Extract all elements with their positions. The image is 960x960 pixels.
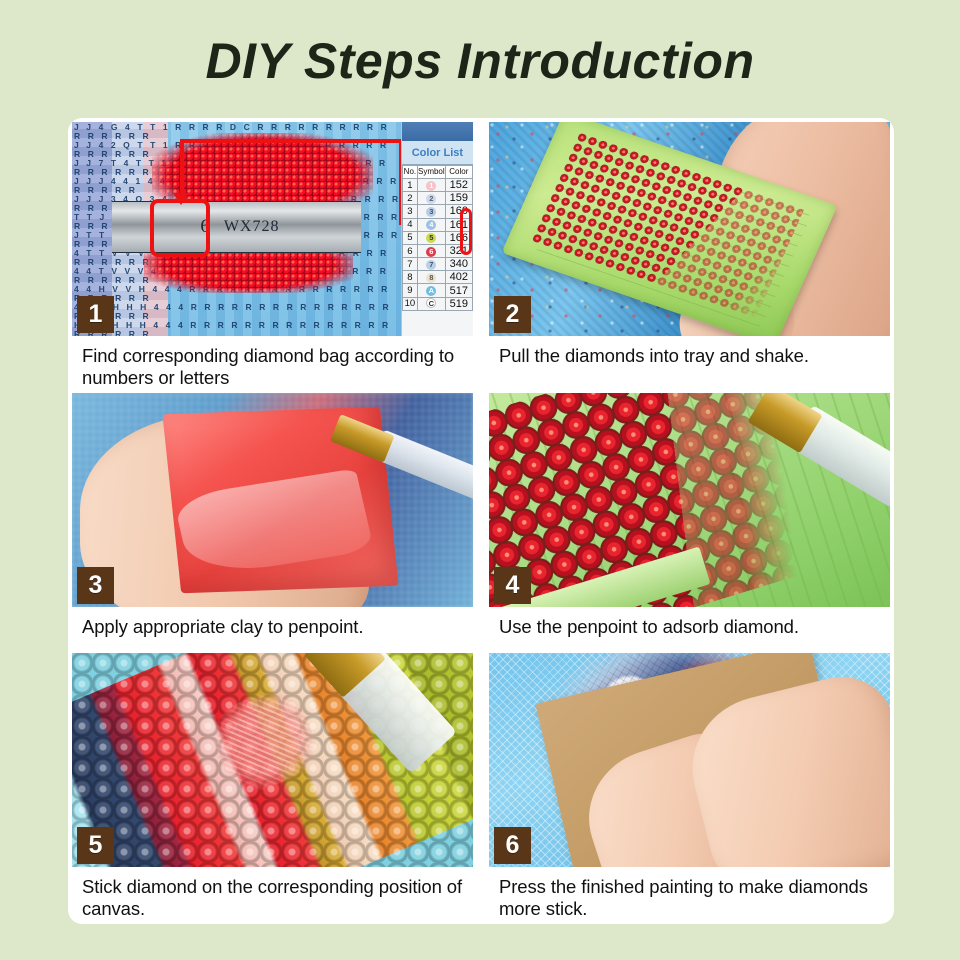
clay-fold	[174, 468, 375, 578]
step-3-caption: Apply appropriate clay to penpoint.	[72, 607, 473, 654]
step-item-3: 3 Apply appropriate clay to penpoint.	[72, 393, 473, 654]
color-list-highlight-box	[460, 208, 472, 255]
step-6-caption: Press the finished painting to make diam…	[489, 867, 890, 924]
step-4-caption: Use the penpoint to adsorb diamond.	[489, 607, 890, 654]
table-row: 7 7 340	[402, 258, 472, 271]
table-row: 2 2 159	[402, 192, 472, 205]
step-badge-3: 3	[77, 567, 114, 604]
symbol-swatch-icon: 3	[426, 207, 436, 217]
table-row: 1 1 152	[402, 178, 472, 191]
step-item-2: 2 Pull the diamonds into tray and shake.	[489, 122, 890, 393]
col-header-symbol: Symbol	[417, 165, 445, 178]
steps-card: J J 4 G 4 T T 1 R R R R D C R R R R R R …	[68, 118, 894, 924]
col-header-no: No.	[402, 165, 417, 178]
step-badge-5: 5	[77, 827, 114, 864]
step-item-4: 4 Use the penpoint to adsorb diamond.	[489, 393, 890, 654]
highlight-connector-horizontal	[180, 139, 401, 143]
symbol-swatch-icon: 5	[426, 233, 436, 243]
table-row: 9 A 517	[402, 284, 472, 297]
color-list-panel: Color List No. Symbol Color 1 1 152	[401, 122, 473, 336]
symbol-swatch-icon: 8	[426, 273, 436, 283]
step-badge-6: 6	[494, 827, 531, 864]
step-4-photo: 4	[489, 393, 890, 607]
col-header-color: Color	[445, 165, 472, 178]
step-6-photo: e Book 6	[489, 653, 890, 867]
symbol-swatch-icon: 6	[426, 247, 436, 257]
step-badge-2: 2	[494, 296, 531, 333]
bag-code-label: WX728	[224, 218, 280, 236]
bag-number-highlight-box	[150, 199, 210, 257]
step-item-6: e Book 6 Press the finished painting to …	[489, 653, 890, 924]
color-list-banner	[402, 122, 473, 141]
step-1-caption: Find corresponding diamond bag according…	[72, 336, 473, 393]
step-5-caption: Stick diamond on the corresponding posit…	[72, 867, 473, 924]
steps-grid: J J 4 G 4 T T 1 R R R R D C R R R R R R …	[68, 118, 894, 924]
symbol-swatch-icon: A	[426, 286, 436, 296]
symbol-swatch-icon: 1	[426, 181, 436, 191]
table-row: 8 8 402	[402, 271, 472, 284]
step-2-photo: 2	[489, 122, 890, 336]
step-item-5: 5 Stick diamond on the corresponding pos…	[72, 653, 473, 924]
color-list-header-row: No. Symbol Color	[402, 165, 472, 178]
step-2-caption: Pull the diamonds into tray and shake.	[489, 336, 890, 393]
step-badge-4: 4	[494, 567, 531, 604]
step-5-photo: 5	[72, 653, 473, 867]
step-3-photo: 3	[72, 393, 473, 607]
step-1-photo: J J 4 G 4 T T 1 R R R R D C R R R R R R …	[72, 122, 473, 336]
pen-point-icon	[329, 414, 393, 462]
symbol-swatch-icon: 4	[426, 220, 436, 230]
symbol-swatch-icon: 2	[426, 194, 436, 204]
symbol-swatch-icon: 7	[426, 260, 436, 270]
highlight-arrowhead-icon	[173, 193, 189, 205]
table-row: 10 C 519	[402, 297, 472, 310]
symbol-swatch-icon: C	[426, 298, 436, 308]
color-list-title: Color List	[402, 141, 473, 165]
step-badge-1: 1	[77, 296, 114, 333]
page-title: DIY Steps Introduction	[0, 32, 960, 90]
step-item-1: J J 4 G 4 T T 1 R R R R D C R R R R R R …	[72, 122, 473, 393]
